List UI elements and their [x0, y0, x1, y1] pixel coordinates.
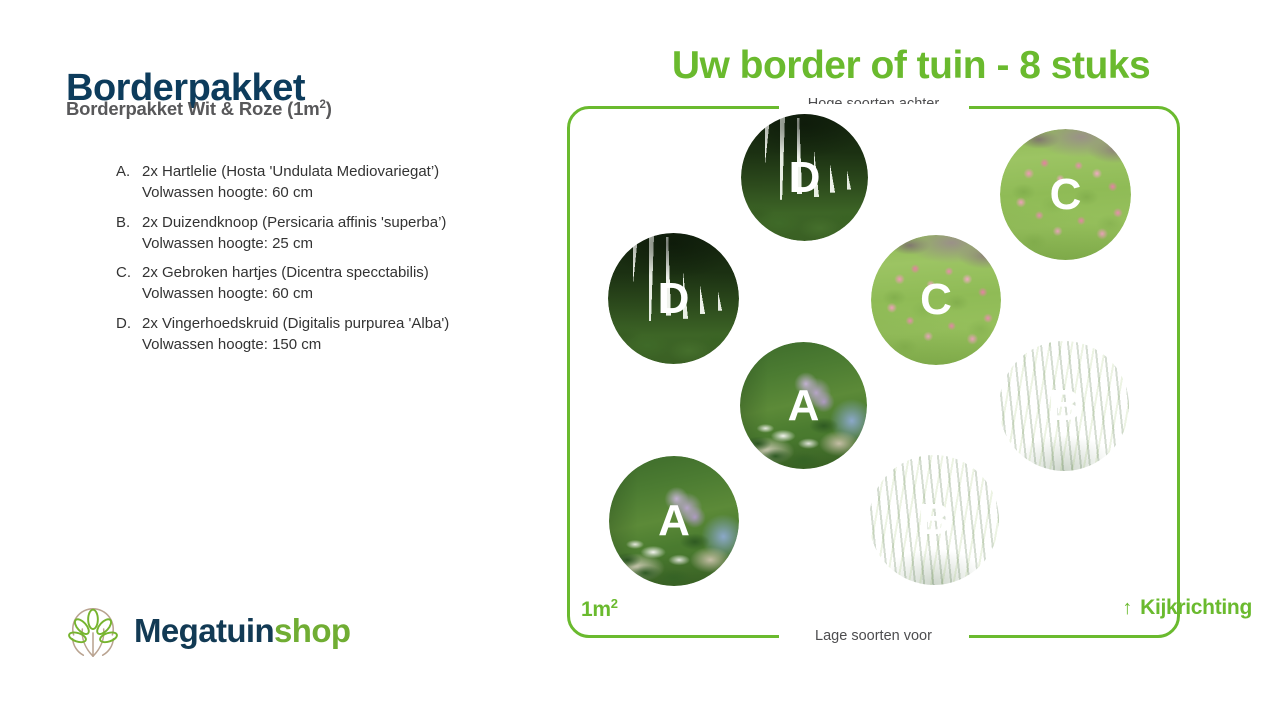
- logo-name-dark: Megatuin: [134, 612, 274, 649]
- circle-label: B: [999, 341, 1129, 471]
- plant-height: Volwassen hoogte: 25 cm: [142, 235, 313, 252]
- caption-low-species-front: Lage soorten voor: [567, 628, 1180, 644]
- logo-name-green: shop: [274, 612, 350, 649]
- circle-label: B: [869, 455, 999, 585]
- area-badge: 1m2: [581, 598, 618, 622]
- plant-letter: B.: [116, 212, 142, 233]
- arrow-up-icon: ↑: [1122, 598, 1132, 618]
- plant-circle-a-1[interactable]: A: [740, 342, 867, 469]
- plant-letter: D.: [116, 313, 142, 334]
- plant-circle-d-1[interactable]: D: [741, 114, 868, 241]
- plant-name: 2x Gebroken hartjes (Dicentra specctabil…: [142, 264, 429, 281]
- circle-label: A: [740, 342, 867, 469]
- plant-circle-a-2[interactable]: A: [609, 456, 739, 586]
- logo-wordmark: Megatuinshop: [134, 612, 350, 650]
- plant-letter: A.: [116, 161, 142, 182]
- plant-circle-b-1[interactable]: B: [999, 341, 1129, 471]
- garden-plan-panel: Uw border of tuin - 8 stuks Hoge soorten…: [540, 0, 1280, 720]
- view-direction-label: Kijkrichting: [1140, 596, 1252, 620]
- plant-circle-c-1[interactable]: C: [1000, 129, 1131, 260]
- plant-circle-d-2[interactable]: D: [608, 233, 739, 364]
- list-item: B. 2x Duizendknoop (Persicaria affinis '…: [116, 212, 546, 254]
- plant-list: A. 2x Hartlelie (Hosta 'Undulata Mediova…: [76, 161, 546, 363]
- plant-circle-b-2[interactable]: B: [869, 455, 999, 585]
- circle-label: C: [871, 235, 1001, 365]
- product-info-panel: Borderpakket Borderpakket Wit & Roze (1m…: [0, 0, 540, 720]
- circle-label: C: [1000, 129, 1131, 260]
- package-subtitle: Borderpakket Wit & Roze (1m2): [66, 98, 332, 120]
- subtitle-text: Borderpakket Wit & Roze (1m: [66, 98, 319, 119]
- circle-label: D: [608, 233, 739, 364]
- plant-name: 2x Duizendknoop (Persicaria affinis 'sup…: [142, 214, 446, 231]
- view-direction-indicator: ↑ Kijkrichting: [1122, 596, 1252, 620]
- circle-label: A: [609, 456, 739, 586]
- plant-height: Volwassen hoogte: 60 cm: [142, 184, 313, 201]
- frame-gap-top: [779, 104, 969, 112]
- area-badge-value: 1m: [581, 598, 611, 621]
- list-item: A. 2x Hartlelie (Hosta 'Undulata Mediova…: [116, 161, 546, 203]
- tree-leaves-logo-icon: [62, 600, 124, 662]
- plant-name: 2x Hartlelie (Hosta 'Undulata Mediovarie…: [142, 163, 439, 180]
- plant-height: Volwassen hoogte: 150 cm: [142, 336, 321, 353]
- plant-height: Volwassen hoogte: 60 cm: [142, 285, 313, 302]
- plant-letter: C.: [116, 262, 142, 283]
- garden-plan-title: Uw border of tuin - 8 stuks: [566, 44, 1256, 88]
- subtitle-tail: ): [326, 98, 332, 119]
- plant-circle-c-2[interactable]: C: [871, 235, 1001, 365]
- plant-name: 2x Vingerhoedskruid (Digitalis purpurea …: [142, 315, 449, 332]
- megatuinshop-logo[interactable]: Megatuinshop: [62, 600, 350, 662]
- list-item: C. 2x Gebroken hartjes (Dicentra speccta…: [116, 262, 546, 304]
- list-item: D. 2x Vingerhoedskruid (Digitalis purpur…: [116, 313, 546, 355]
- area-badge-superscript: 2: [611, 596, 618, 611]
- circle-label: D: [741, 114, 868, 241]
